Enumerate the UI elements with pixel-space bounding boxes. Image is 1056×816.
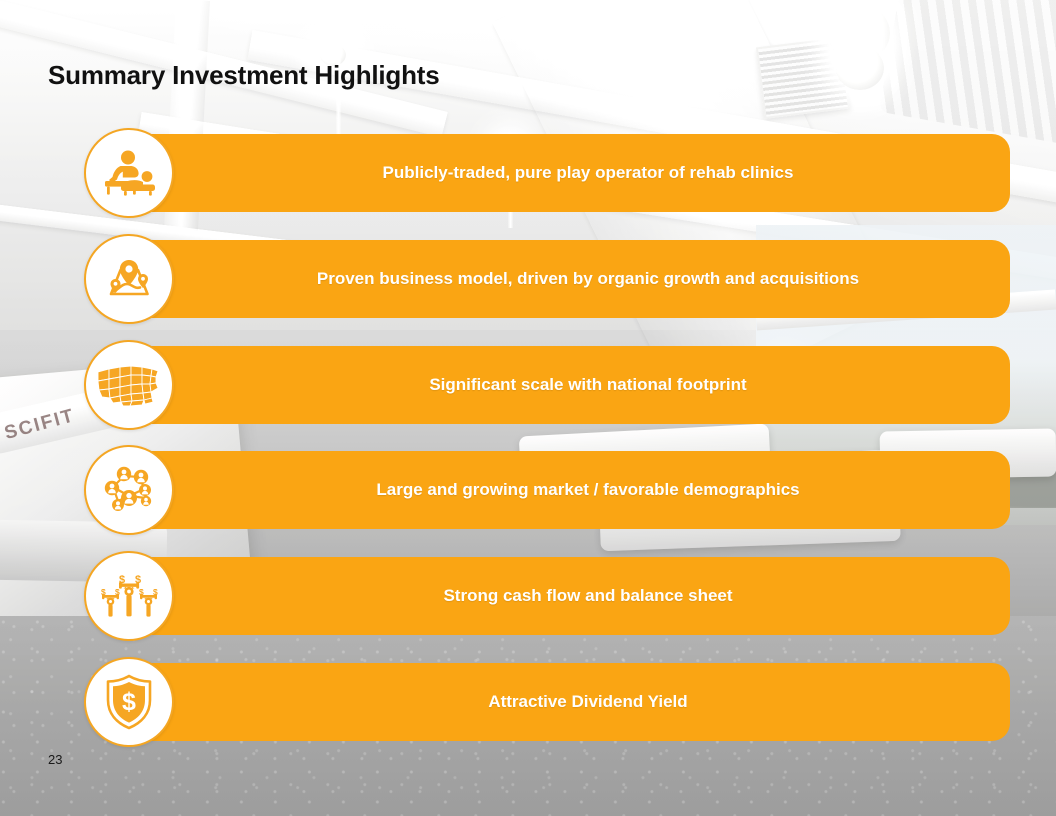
highlight-row-dividend-yield[interactable]: Attractive Dividend Yield $ xyxy=(84,657,1010,747)
highlight-row-publicly-traded[interactable]: Publicly-traded, pure play operator of r… xyxy=(84,128,1010,218)
highlights-list: Publicly-traded, pure play operator of r… xyxy=(0,0,1056,816)
highlight-row-market-demographics[interactable]: Large and growing market / favorable dem… xyxy=(84,445,1010,535)
usa-map-icon xyxy=(96,362,162,408)
highlight-icon-circle xyxy=(84,128,174,218)
therapist-patient-icon xyxy=(100,148,158,198)
highlight-bar: Publicly-traded, pure play operator of r… xyxy=(130,134,1010,212)
highlight-icon-circle: $ xyxy=(84,657,174,747)
highlight-label: Large and growing market / favorable dem… xyxy=(316,480,823,500)
highlight-label: Publicly-traded, pure play operator of r… xyxy=(323,163,818,183)
highlight-icon-circle: $ $ $ xyxy=(84,551,174,641)
page-number: 23 xyxy=(48,752,62,767)
slide: SCIFIT Summary Investment Highlights Pub… xyxy=(0,0,1056,816)
highlight-bar: Strong cash flow and balance sheet xyxy=(130,557,1010,635)
highlight-icon-circle xyxy=(84,340,174,430)
dollar-weightlifters-icon: $ $ $ xyxy=(97,570,161,622)
svg-text:$: $ xyxy=(122,688,136,716)
highlight-bar: Attractive Dividend Yield xyxy=(130,663,1010,741)
highlight-row-national-footprint[interactable]: Significant scale with national footprin… xyxy=(84,340,1010,430)
highlight-label: Proven business model, driven by organic… xyxy=(257,269,883,289)
highlight-label: Strong cash flow and balance sheet xyxy=(383,586,756,606)
highlight-label: Significant scale with national footprin… xyxy=(369,375,770,395)
highlight-bar: Large and growing market / favorable dem… xyxy=(130,451,1010,529)
highlight-label: Attractive Dividend Yield xyxy=(428,692,711,712)
map-pins-icon xyxy=(98,254,160,304)
highlight-bar: Proven business model, driven by organic… xyxy=(130,240,1010,318)
highlight-row-cash-flow[interactable]: Strong cash flow and balance sheet $ $ xyxy=(84,551,1010,641)
people-network-icon xyxy=(100,463,158,517)
highlight-bar: Significant scale with national footprin… xyxy=(130,346,1010,424)
highlight-icon-circle xyxy=(84,234,174,324)
shield-dollar-icon: $ xyxy=(103,674,155,730)
highlight-icon-circle xyxy=(84,445,174,535)
highlight-row-business-model[interactable]: Proven business model, driven by organic… xyxy=(84,234,1010,324)
